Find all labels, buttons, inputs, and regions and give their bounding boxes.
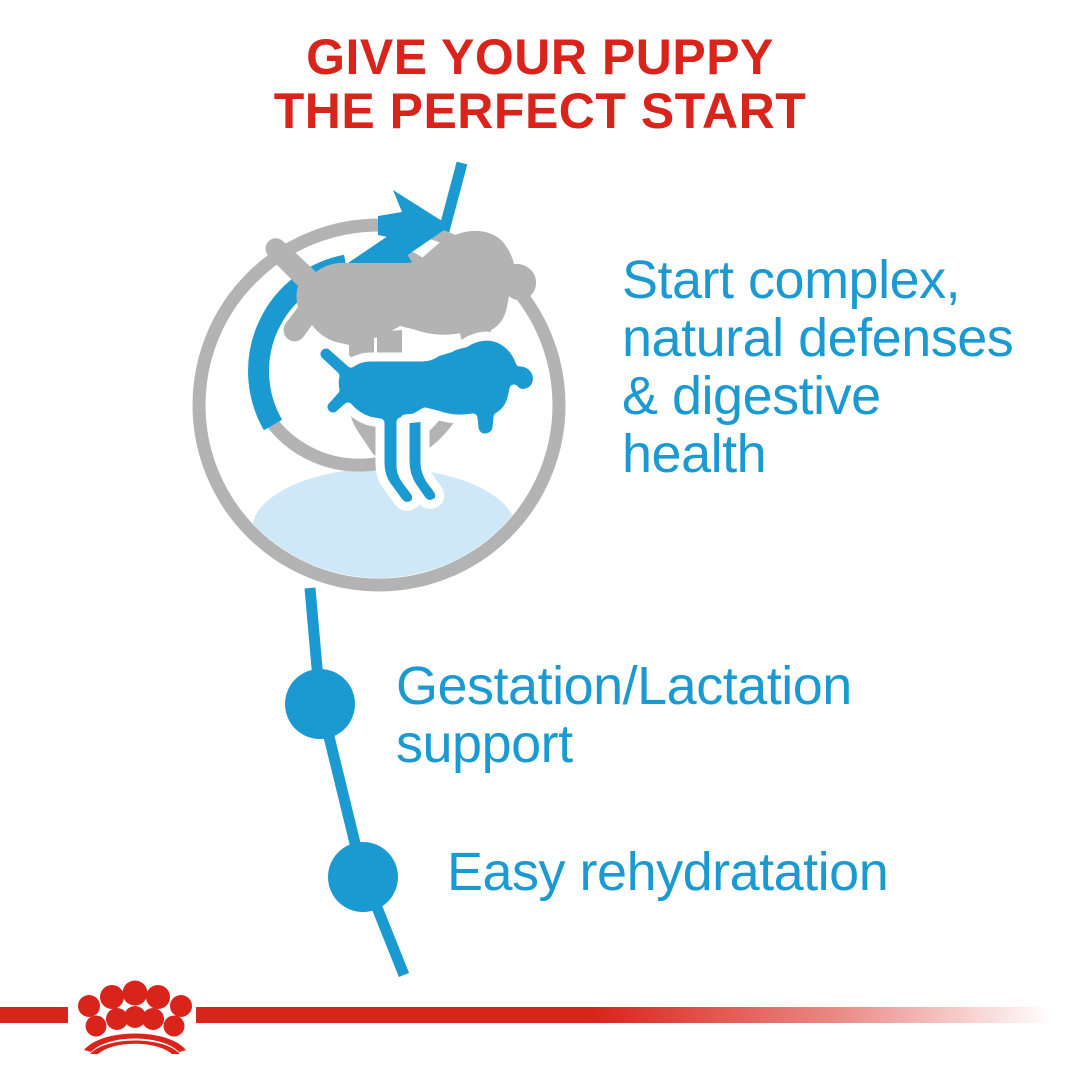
footer-bar-left-segment bbox=[0, 1007, 68, 1023]
feature-label-easy-rehydratation: Easy rehydratation bbox=[447, 843, 1047, 901]
royal-canin-puppy-benefits-panel: GIVE YOUR PUPPY THE PERFECT START bbox=[0, 0, 1080, 1080]
royal-canin-crown-logo bbox=[72, 970, 198, 1054]
connector-node-1 bbox=[285, 669, 355, 739]
puppy-growth-circle-icon bbox=[150, 130, 610, 630]
footer-bar-right-segment bbox=[196, 1007, 1080, 1023]
connector-node-2 bbox=[328, 842, 398, 912]
footer-brand-bar bbox=[0, 1002, 1080, 1028]
feature-label-start-complex: Start complex, natural defenses & digest… bbox=[622, 251, 1022, 483]
feature-label-gestation-lactation: Gestation/Lactation support bbox=[396, 657, 1036, 773]
